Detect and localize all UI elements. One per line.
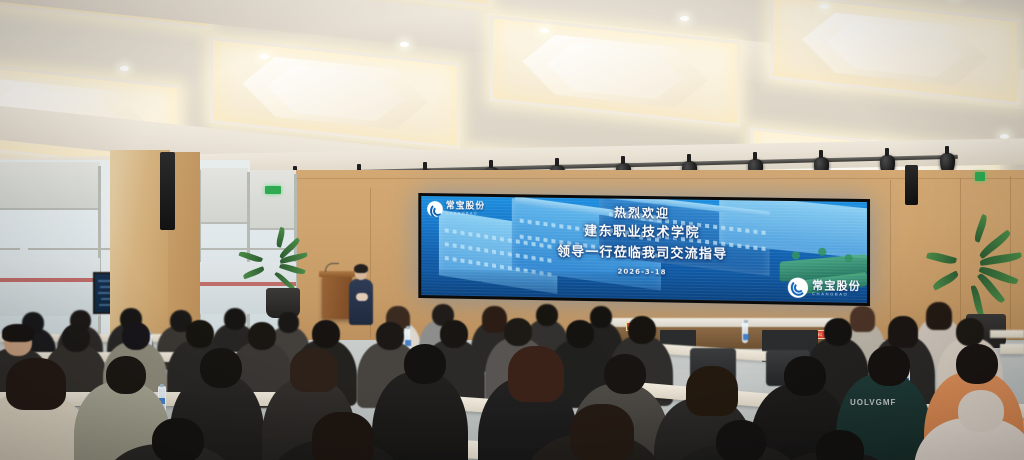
logo-en-text: CHANGBAO [446, 212, 485, 216]
potted-plant-left [258, 240, 304, 320]
person-head [224, 308, 246, 330]
person-hair [686, 366, 738, 416]
ceiling-coffer [490, 15, 740, 127]
desk-row [1000, 344, 1024, 354]
person-hair [850, 306, 875, 332]
downlight [260, 54, 269, 59]
changbao-arc-icon [788, 277, 808, 297]
conference-hall-photo: 热烈欢迎 建东职业技术学院 领导一行莅临我司交流指导 2026-3-18 常宝股… [0, 0, 1024, 460]
exterior-red-stripe [0, 278, 100, 282]
wall-seam [890, 180, 891, 340]
exterior-rooftop-unit [20, 248, 28, 259]
person-head [716, 420, 766, 460]
presenter-body [349, 279, 373, 325]
logo-wordmark: 常宝股份 CHANGBAO [812, 280, 861, 297]
person-head [628, 316, 656, 344]
person-head [868, 346, 910, 386]
desk-row [990, 330, 1024, 338]
palm-frond [971, 285, 985, 318]
line-array-speaker [905, 165, 918, 205]
person-head [824, 318, 852, 346]
led-screen-content: 热烈欢迎 建东职业技术学院 领导一行莅临我司交流指导 2026-3-18 常宝股… [421, 196, 867, 303]
screen-logo-bottom-right: 常宝股份 CHANGBAO [788, 277, 861, 298]
person-head [536, 304, 558, 326]
person-head [376, 322, 404, 350]
person-hair [888, 316, 918, 348]
microphone-icon [325, 263, 339, 272]
person-head [152, 418, 204, 460]
person-torso [372, 372, 468, 460]
downlight [400, 42, 409, 47]
person-hair [312, 412, 374, 460]
changbao-arc-icon [427, 201, 443, 217]
person-head [278, 312, 299, 333]
downlight [120, 66, 129, 71]
person-head [312, 320, 340, 348]
logo-cn-text: 常宝股份 [812, 280, 861, 292]
person-hair [508, 346, 564, 402]
window-blind [0, 162, 100, 210]
window-blind [250, 170, 296, 230]
person-head [956, 318, 984, 346]
window-blind [200, 168, 248, 224]
person-head [604, 354, 646, 394]
person-head [248, 322, 276, 350]
person-hair [6, 358, 66, 410]
ceiling-coffer [770, 0, 1020, 105]
presenter-hair [354, 264, 368, 273]
exit-sign [975, 172, 985, 181]
person-head [62, 324, 90, 352]
person-hair [926, 302, 952, 330]
exterior-building [0, 258, 100, 316]
person-head [186, 320, 214, 348]
person-head [200, 348, 242, 388]
person-head [122, 322, 150, 350]
person-head [106, 356, 146, 394]
person-hair [290, 348, 338, 392]
presenter [348, 266, 374, 324]
led-display-wall[interactable]: 热烈欢迎 建东职业技术学院 领导一行莅临我司交流指导 2026-3-18 常宝股… [418, 193, 870, 306]
palm-frond [279, 262, 306, 276]
screen-logo-top-left: 常宝股份 CHANGBAO [427, 201, 485, 218]
person-head [956, 344, 998, 384]
led-headline-block: 热烈欢迎 建东职业技术学院 领导一行莅临我司交流指导 2026-3-18 [421, 202, 867, 282]
water-bottle [742, 322, 748, 343]
line-array-speaker [160, 152, 175, 230]
person-head [404, 344, 446, 384]
downlight [680, 16, 689, 21]
downlight [540, 28, 549, 33]
person-hair [2, 324, 34, 342]
presenter-hands [356, 293, 368, 301]
person-head [440, 320, 468, 348]
person-head [590, 306, 612, 328]
person-head [958, 390, 1004, 432]
person-head [566, 320, 594, 348]
jacket-print: UOLVGMF [850, 398, 896, 407]
logo-wordmark: 常宝股份 CHANGBAO [446, 203, 485, 217]
logo-en-text: CHANGBAO [812, 292, 861, 297]
subject-line: 领导一行莅临我司交流指导 [421, 241, 867, 266]
person-head [504, 318, 532, 346]
person-hair [570, 404, 634, 460]
person-head [784, 356, 826, 396]
exit-sign [265, 186, 281, 194]
downlight [820, 4, 829, 9]
